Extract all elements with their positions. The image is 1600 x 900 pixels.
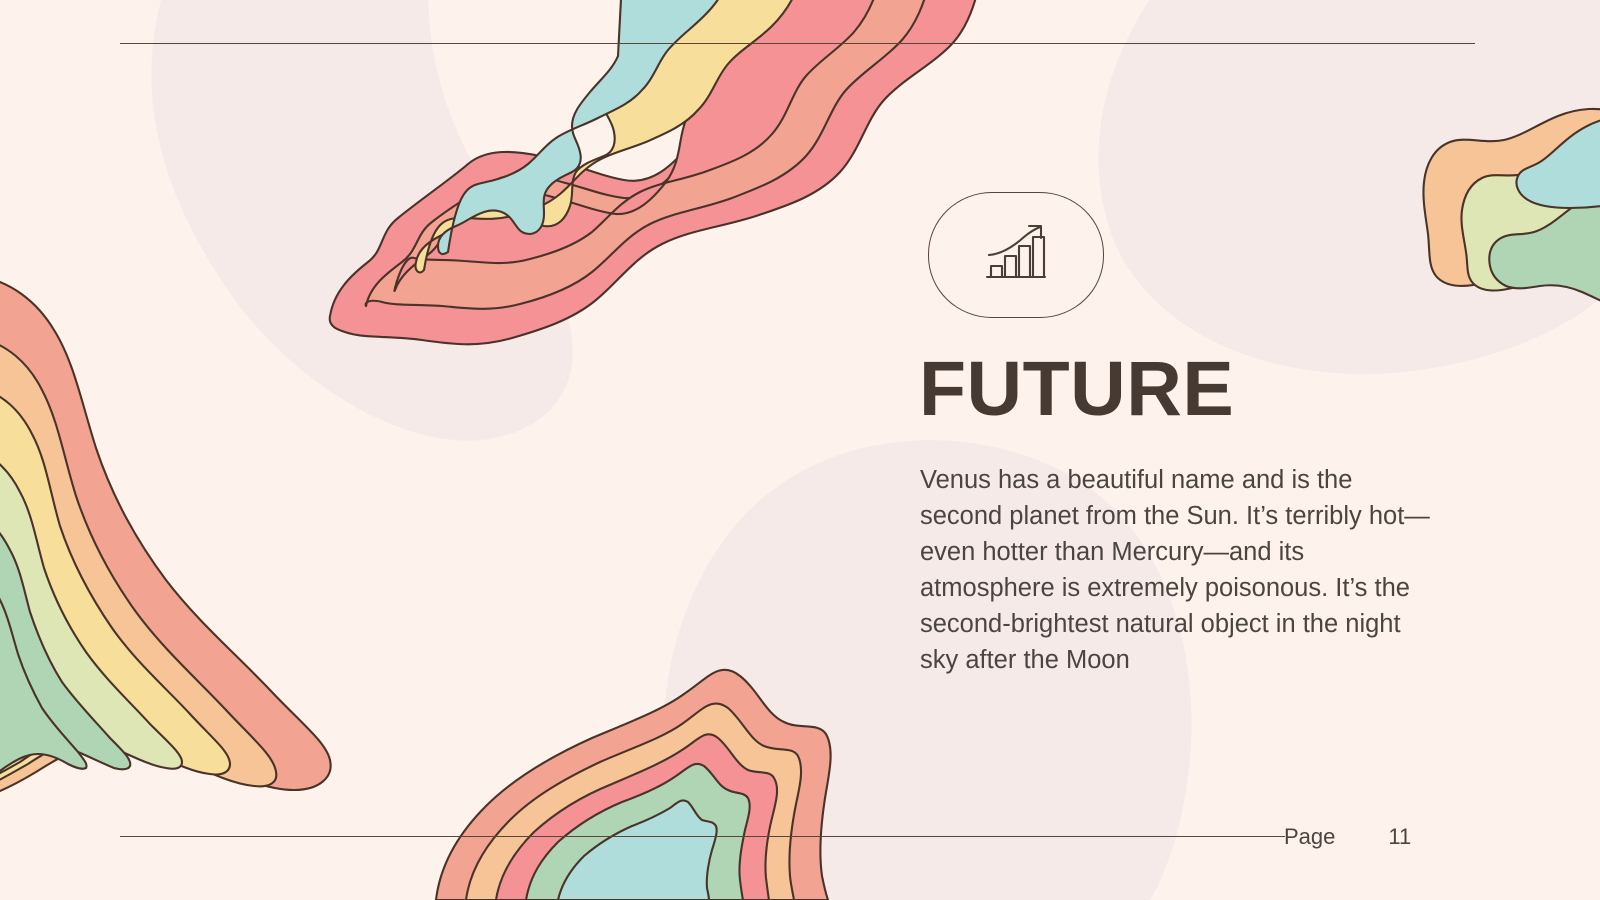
- body-paragraph: Venus has a beautiful name and is the se…: [920, 462, 1432, 678]
- top-divider-rule: [120, 43, 1475, 44]
- bg-blob-top-left: [151, 0, 572, 441]
- page-label: Page: [1284, 824, 1335, 850]
- contour-blob-diagonal: [330, 0, 980, 344]
- bottom-divider-rule: [120, 836, 1285, 837]
- bg-blob-top-right: [1098, 0, 1600, 374]
- page-number: 11: [1388, 824, 1411, 850]
- contour-topography-art: .ol { stroke: #4A3328; stroke-width: 2.1…: [0, 0, 1600, 900]
- background-decoration: [0, 0, 1600, 900]
- footer: Page 11: [1284, 820, 1514, 854]
- slide-canvas: .ol { stroke: #4A3328; stroke-width: 2.1…: [0, 0, 1600, 900]
- contour-blob-left: [0, 276, 331, 798]
- growth-icon-badge: [928, 192, 1104, 318]
- page-title: FUTURE: [919, 351, 1234, 428]
- contour-blob-bottom: [436, 670, 831, 900]
- contour-blob-right: [1423, 109, 1600, 310]
- growth-bar-chart-arrow-icon: [980, 224, 1052, 286]
